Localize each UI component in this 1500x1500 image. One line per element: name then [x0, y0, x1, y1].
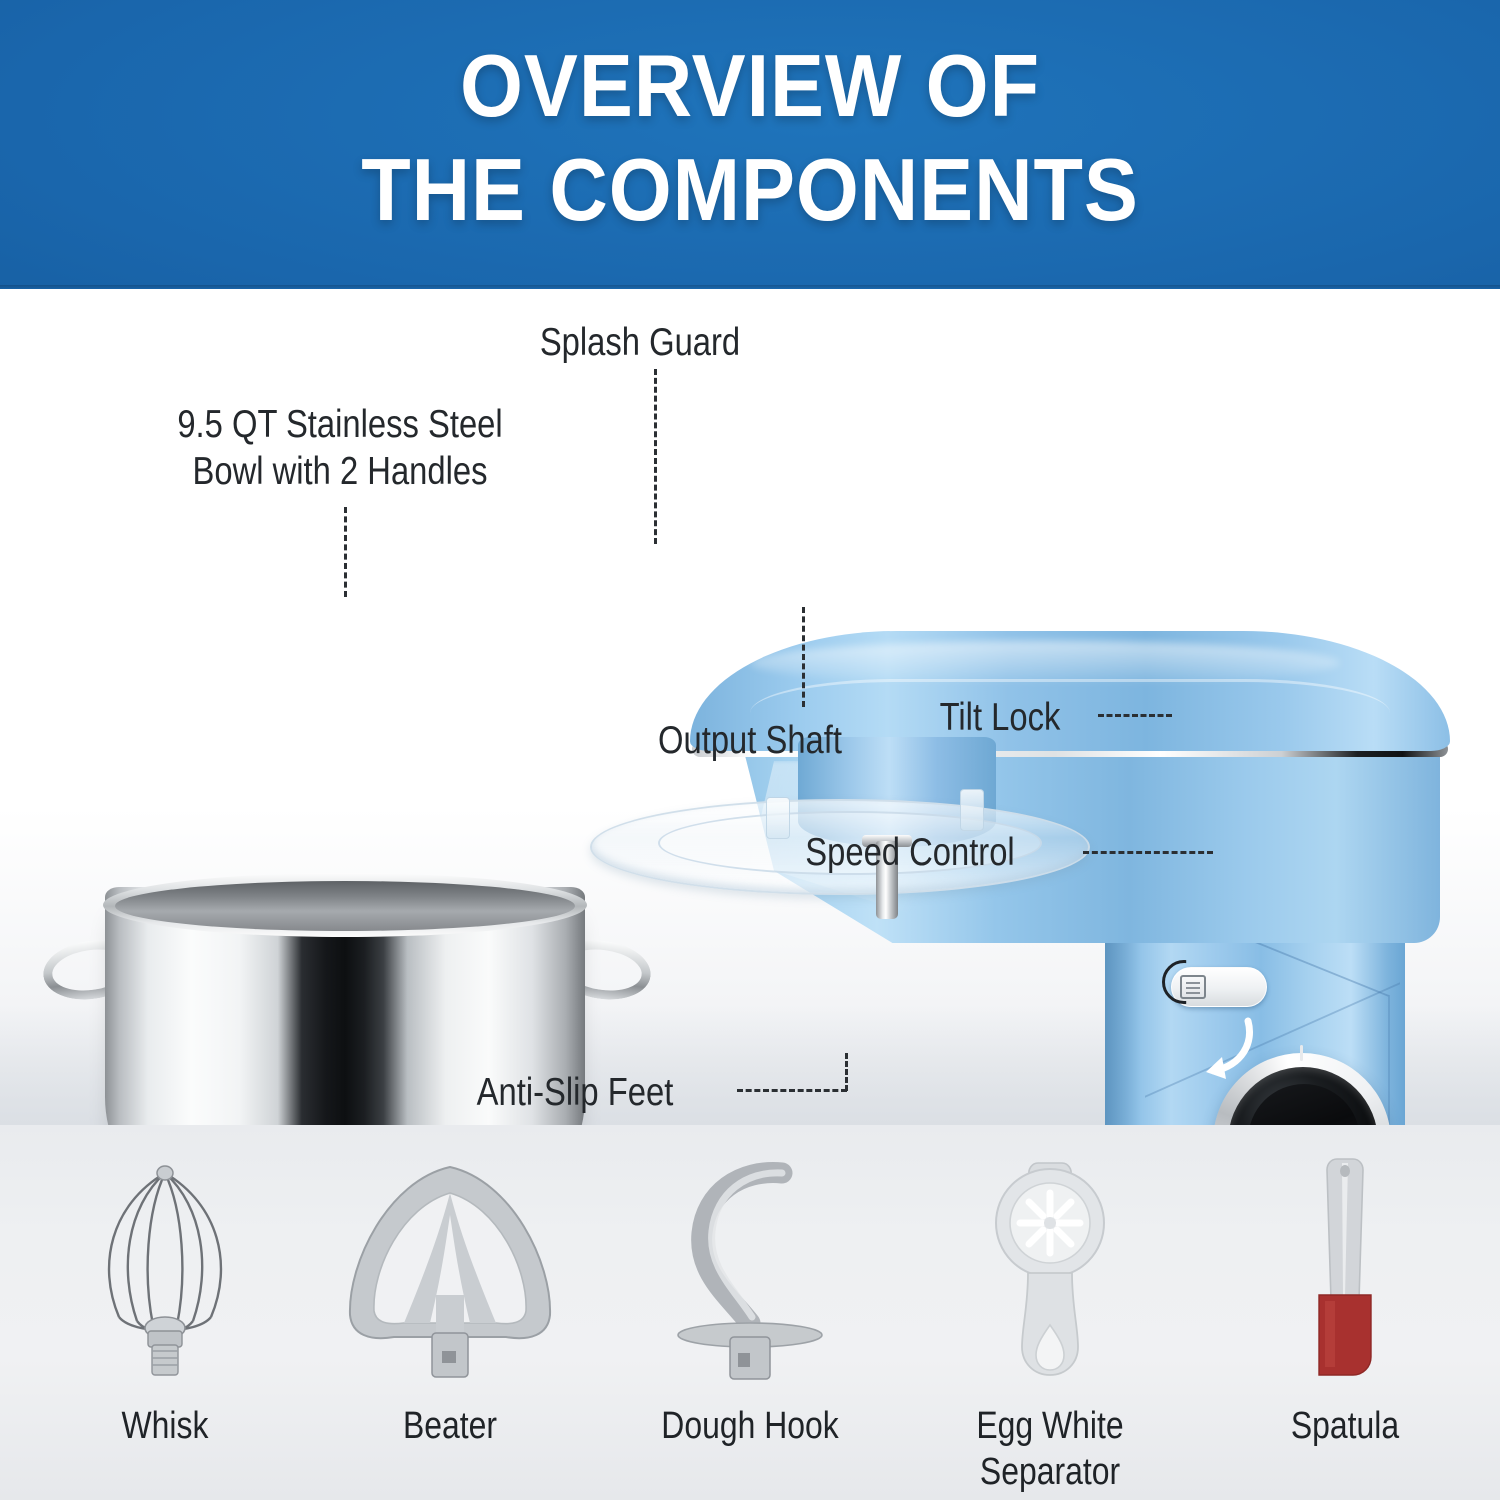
callout-label-bowl: 9.5 QT Stainless Steel Bowl with 2 Handl… — [130, 401, 550, 495]
accessory-label-dough-hook: Dough Hook — [624, 1403, 876, 1449]
accessories-strip: Whisk Beater Dough Hook — [0, 1125, 1500, 1500]
leader-line-tilt-lock — [1098, 714, 1172, 717]
splash-guard-clip-right — [960, 789, 984, 831]
accessory-label-spatula: Spatula — [1219, 1403, 1471, 1449]
callout-label-anti-slip-feet: Anti-Slip Feet — [415, 1069, 734, 1116]
leader-line-anti-slip-feet-vertical — [845, 1053, 848, 1091]
leader-line-splash-guard — [654, 369, 657, 544]
accessory-label-beater: Beater — [324, 1403, 576, 1449]
accessory-dough-hook: Dough Hook — [600, 1145, 900, 1500]
page-title: OVERVIEW OF THE COMPONENTS — [60, 34, 1440, 242]
bowl-interior — [115, 881, 575, 931]
beater-icon — [300, 1145, 600, 1395]
accessory-label-whisk: Whisk — [39, 1403, 291, 1449]
header-banner: OVERVIEW OF THE COMPONENTS — [0, 0, 1500, 289]
callout-label-speed-control: Speed Control — [742, 829, 1078, 876]
egg-white-separator-icon — [900, 1145, 1200, 1395]
leader-line-anti-slip-feet-horizontal — [737, 1089, 847, 1092]
accessory-whisk: Whisk — [15, 1145, 315, 1500]
whisk-icon — [15, 1145, 315, 1395]
accessory-egg-white-separator: Egg White Separator — [900, 1145, 1200, 1500]
callout-label-splash-guard: Splash Guard — [464, 319, 817, 366]
callout-label-tilt-lock: Tilt Lock — [857, 694, 1143, 741]
accessory-label-egg-white-separator: Egg White Separator — [924, 1403, 1176, 1495]
accessory-spatula: Spatula — [1195, 1145, 1495, 1500]
leader-line-speed-control — [1083, 851, 1213, 854]
product-diagram-stage: LOCK Vezzio — [0, 289, 1500, 1125]
leader-line-bowl — [344, 507, 347, 597]
spatula-icon — [1195, 1145, 1495, 1395]
speed-control-indicator — [1300, 1045, 1303, 1061]
dough-hook-icon — [600, 1145, 900, 1395]
accessory-beater: Beater — [300, 1145, 600, 1500]
leader-line-output-shaft — [802, 607, 805, 707]
